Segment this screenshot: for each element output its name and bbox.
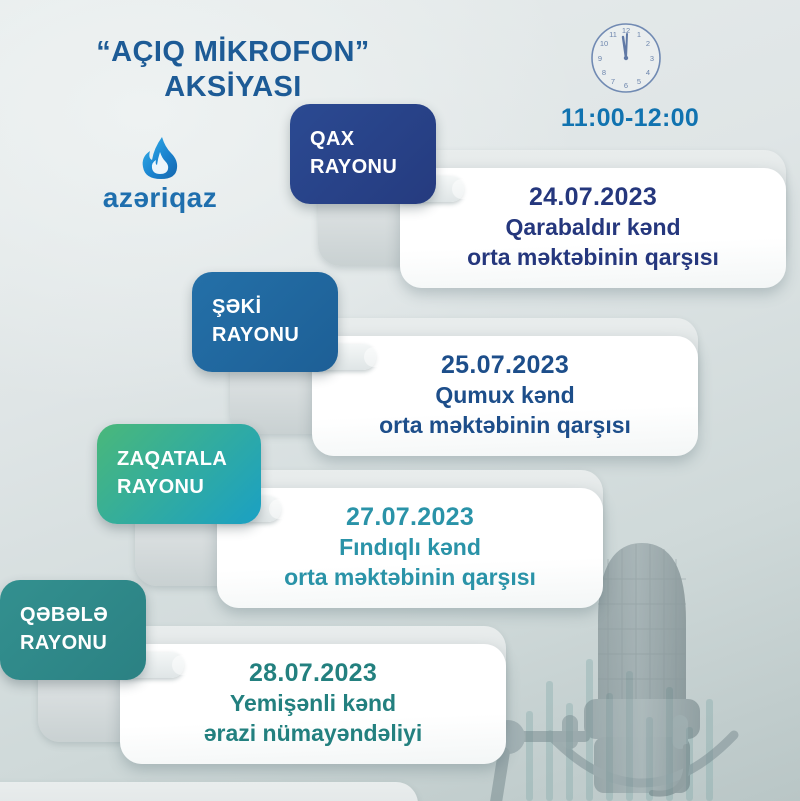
region-name: ZAQATALA [117, 446, 243, 474]
poster-canvas: “AÇIQ MİKROFON” AKSİYASI azəriqaz 1212 3… [0, 0, 800, 801]
gas-flame-icon [140, 136, 180, 180]
event-place-line-2: orta məktəbinin qarşısı [467, 243, 719, 273]
svg-text:3: 3 [650, 54, 654, 63]
svg-text:4: 4 [646, 68, 650, 77]
svg-text:11: 11 [609, 30, 617, 39]
svg-text:6: 6 [624, 81, 628, 90]
event-date: 27.07.2023 [346, 501, 474, 533]
svg-text:7: 7 [611, 77, 615, 86]
region-name: QAX [310, 126, 418, 154]
event-place-line-1: Qumux kənd [435, 381, 574, 411]
region-suffix: RAYONU [212, 322, 320, 350]
region-suffix: RAYONU [310, 154, 418, 182]
svg-text:10: 10 [600, 39, 608, 48]
azeriqaz-wordmark: azəriqaz [60, 182, 260, 214]
svg-text:8: 8 [602, 68, 606, 77]
svg-text:5: 5 [637, 77, 641, 86]
event-date: 28.07.2023 [249, 657, 377, 689]
region-tag: QƏBƏLƏ RAYONU [0, 580, 146, 680]
svg-text:1: 1 [637, 30, 641, 39]
region-name: ŞƏKİ [212, 294, 320, 322]
svg-text:12: 12 [622, 26, 630, 35]
event-date: 24.07.2023 [529, 181, 657, 213]
page-title: “AÇIQ MİKROFON” AKSİYASI [18, 35, 448, 106]
azeriqaz-logo: azəriqaz [60, 136, 260, 214]
region-tag: ŞƏKİ RAYONU [192, 272, 338, 372]
event-place-line-1: Fındıqlı kənd [339, 533, 481, 563]
event-place-line-2: ərazi nümayəndəliyi [204, 719, 423, 749]
title-line-1: “AÇIQ MİKROFON” [96, 36, 369, 68]
event-place-line-2: orta məktəbinin qarşısı [379, 411, 631, 441]
region-suffix: RAYONU [117, 474, 243, 502]
region-tag: QAX RAYONU [290, 104, 436, 204]
svg-text:2: 2 [646, 39, 650, 48]
event-place-line-1: Yemişənli kənd [230, 689, 396, 719]
svg-text:9: 9 [598, 54, 602, 63]
event-date: 25.07.2023 [441, 349, 569, 381]
time-label: 11:00-12:00 [540, 104, 720, 133]
analog-clock-icon: 1212 345 678 91011 [586, 18, 666, 98]
event-place-line-2: orta məktəbinin qarşısı [284, 563, 536, 593]
title-line-2: AKSİYASI [18, 70, 448, 105]
region-name: QƏBƏLƏ [20, 602, 128, 630]
event-place-line-1: Qarabaldır kənd [505, 213, 680, 243]
region-tag: ZAQATALA RAYONU [97, 424, 261, 524]
card-stack-shadow-next [0, 782, 418, 801]
region-suffix: RAYONU [20, 630, 128, 658]
